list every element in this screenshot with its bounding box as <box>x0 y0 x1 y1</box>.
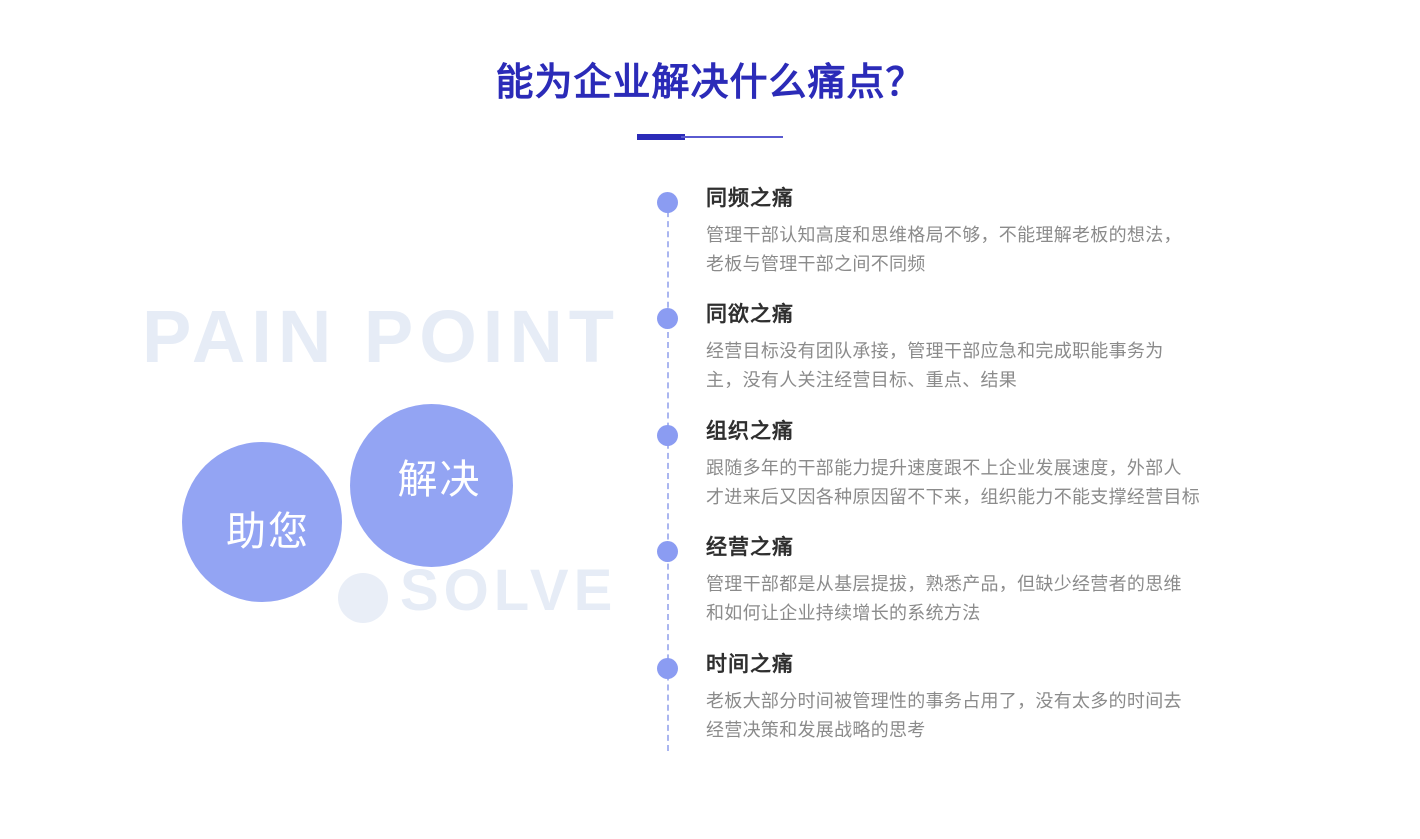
timeline-dot-icon <box>657 541 678 562</box>
title-divider <box>637 134 783 140</box>
left-graphic: PAIN POINT SOLVE 助您 解决 <box>120 290 600 640</box>
timeline-item-body: 经营之痛 管理干部都是从基层提拔，熟悉产品，但缺少经营者的思维 和如何让企业持续… <box>706 534 1306 628</box>
page-title: 能为企业解决什么痛点？ <box>0 58 1420 108</box>
timeline-dot-icon <box>657 308 678 329</box>
timeline-item-heading: 组织之痛 <box>706 418 1306 446</box>
timeline-item-description: 跟随多年的干部能力提升速度跟不上企业发展速度，外部人 才进来后又因各种原因留不下… <box>706 454 1306 512</box>
slide-root: 能为企业解决什么痛点？ PAIN POINT SOLVE 助您 解决 同频之痛 … <box>0 0 1420 839</box>
timeline-item-body: 组织之痛 跟随多年的干部能力提升速度跟不上企业发展速度，外部人 才进来后又因各种… <box>706 418 1306 512</box>
watermark-pain-point: PAIN POINT <box>142 300 620 374</box>
title-block: 能为企业解决什么痛点？ <box>0 58 1420 108</box>
bubble-solve: 解决 <box>350 404 513 567</box>
timeline-item-description: 管理干部都是从基层提拔，熟悉产品，但缺少经营者的思维 和如何让企业持续增长的系统… <box>706 570 1306 628</box>
timeline-item-description: 老板大部分时间被管理性的事务占用了，没有太多的时间去 经营决策和发展战略的思考 <box>706 687 1306 745</box>
pain-point-timeline: 同频之痛 管理干部认知高度和思维格局不够，不能理解老板的想法， 老板与管理干部之… <box>648 185 1308 765</box>
watermark-circle-icon <box>338 573 388 623</box>
bubble-solve-label: 解决 <box>398 460 482 500</box>
divider-thin-segment <box>681 136 783 138</box>
timeline-item-body: 同欲之痛 经营目标没有团队承接，管理干部应急和完成职能事务为 主，没有人关注经营… <box>706 301 1306 395</box>
timeline-item-description: 经营目标没有团队承接，管理干部应急和完成职能事务为 主，没有人关注经营目标、重点… <box>706 337 1306 395</box>
timeline-dot-icon <box>657 425 678 446</box>
timeline-item-body: 时间之痛 老板大部分时间被管理性的事务占用了，没有太多的时间去 经营决策和发展战… <box>706 651 1306 745</box>
timeline-item-heading: 同欲之痛 <box>706 301 1306 329</box>
bubble-help: 助您 <box>182 442 342 602</box>
timeline-item-heading: 同频之痛 <box>706 185 1306 213</box>
divider-thick-segment <box>637 134 685 140</box>
timeline-item-heading: 经营之痛 <box>706 534 1306 562</box>
timeline-item-description: 管理干部认知高度和思维格局不够，不能理解老板的想法， 老板与管理干部之间不同频 <box>706 221 1306 279</box>
timeline-dot-icon <box>657 658 678 679</box>
bubble-help-label: 助您 <box>226 512 310 552</box>
timeline-item-heading: 时间之痛 <box>706 651 1306 679</box>
watermark-solve: SOLVE <box>400 562 617 620</box>
timeline-dot-icon <box>657 192 678 213</box>
timeline-item-body: 同频之痛 管理干部认知高度和思维格局不够，不能理解老板的想法， 老板与管理干部之… <box>706 185 1306 279</box>
